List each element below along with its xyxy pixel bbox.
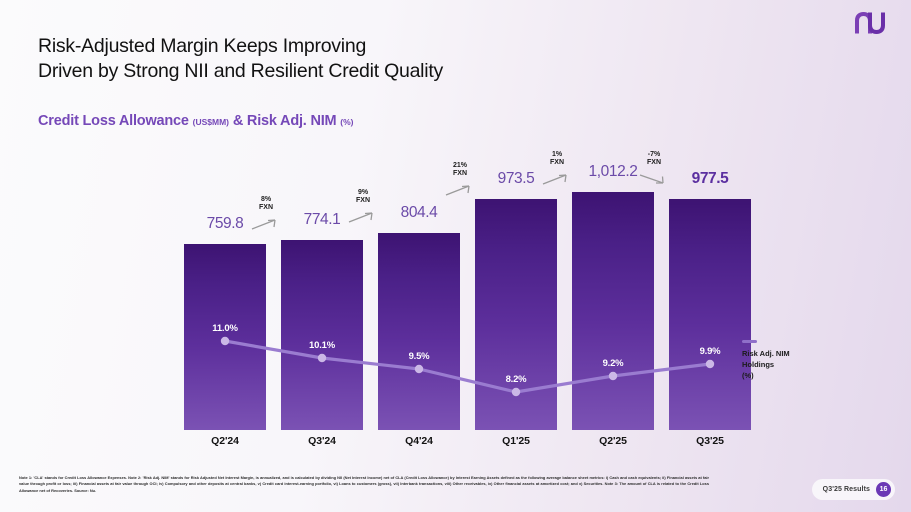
- fxn-arrow-up-2: [348, 210, 378, 224]
- fxn-pct-5: -7%: [648, 151, 660, 158]
- legend-swatch-nim: [742, 340, 757, 343]
- x-axis-labels: Q2'24 Q3'24 Q4'24 Q1'25 Q2'25 Q3'25: [170, 435, 750, 455]
- chart-subtitle: Credit Loss Allowance (US$MM) & Risk Adj…: [38, 113, 354, 129]
- page-title: Risk-Adjusted Margin Keeps Improving Dri…: [38, 34, 443, 84]
- fxn-arrow-up-3: [445, 183, 475, 197]
- combo-chart: 759.8 774.1 804.4 973.5 1,012.2 977.5 8%…: [170, 165, 750, 440]
- page-number: 16: [876, 482, 891, 497]
- bar-q224: [184, 244, 266, 430]
- fxn-label-5: FXN: [647, 159, 661, 166]
- subtitle-part-1: Credit Loss Allowance: [38, 113, 189, 129]
- bar-q324: [281, 240, 363, 430]
- x-label-q424: Q4'24: [378, 435, 460, 447]
- x-label-q224: Q2'24: [184, 435, 266, 447]
- fxn-annotation-5: -7% FXN: [631, 151, 677, 167]
- nim-label-q125: 8.2%: [481, 374, 551, 385]
- bar-q424: [378, 233, 460, 430]
- nim-label-q324: 10.1%: [287, 340, 357, 351]
- page-badge-label: Q3'25 Results: [823, 486, 870, 493]
- bar-q125: [475, 199, 557, 430]
- bar-q325: [669, 199, 751, 430]
- fxn-annotation-1: 8% FXN: [243, 196, 289, 212]
- fxn-arrow-up-1: [251, 217, 281, 231]
- nim-label-q424: 9.5%: [384, 351, 454, 362]
- x-label-q324: Q3'24: [281, 435, 363, 447]
- subtitle-part-2: & Risk Adj. NIM: [233, 113, 337, 129]
- x-label-q325: Q3'25: [669, 435, 751, 447]
- nim-label-q225: 9.2%: [578, 358, 648, 369]
- fxn-pct-4: 1%: [552, 151, 562, 158]
- subtitle-unit-2: (%): [340, 117, 353, 127]
- fxn-pct-2: 9%: [358, 189, 368, 196]
- nu-logo-icon: [853, 10, 887, 36]
- bar-q225: [572, 192, 654, 430]
- page-badge: Q3'25 Results 16: [812, 479, 895, 500]
- fxn-annotation-2: 9% FXN: [340, 189, 386, 205]
- x-label-q125: Q1'25: [475, 435, 557, 447]
- chart-plot-area: 759.8 774.1 804.4 973.5 1,012.2 977.5 8%…: [170, 165, 750, 430]
- nim-label-q325: 9.9%: [675, 346, 745, 357]
- subtitle-unit-1: (US$MM): [193, 117, 229, 127]
- chart-legend: Risk Adj. NIM Holdings (%): [742, 340, 862, 382]
- legend-label-line-2: Holdings: [742, 360, 862, 371]
- legend-label-line-1: Risk Adj. NIM: [742, 349, 862, 360]
- title-line-1: Risk-Adjusted Margin Keeps Improving: [38, 34, 443, 59]
- fxn-pct-1: 8%: [261, 196, 271, 203]
- fxn-label-1: FXN: [259, 204, 273, 211]
- nim-label-q224: 11.0%: [190, 323, 260, 334]
- legend-label-line-3: (%): [742, 371, 862, 382]
- fxn-arrow-up-4: [542, 172, 572, 186]
- fxn-label-2: FXN: [356, 197, 370, 204]
- x-label-q225: Q2'25: [572, 435, 654, 447]
- fxn-annotation-3: 21% FXN: [437, 162, 483, 178]
- fxn-arrow-down-5: [639, 172, 669, 186]
- fxn-label-4: FXN: [550, 159, 564, 166]
- fxn-annotation-4: 1% FXN: [534, 151, 580, 167]
- slide: Risk-Adjusted Margin Keeps Improving Dri…: [0, 0, 911, 512]
- fxn-pct-3: 21%: [453, 162, 467, 169]
- fxn-label-3: FXN: [453, 170, 467, 177]
- footnote-text: Note 1: 'CLA' stands for Credit Loss All…: [19, 475, 709, 494]
- title-line-2: Driven by Strong NII and Resilient Credi…: [38, 59, 443, 84]
